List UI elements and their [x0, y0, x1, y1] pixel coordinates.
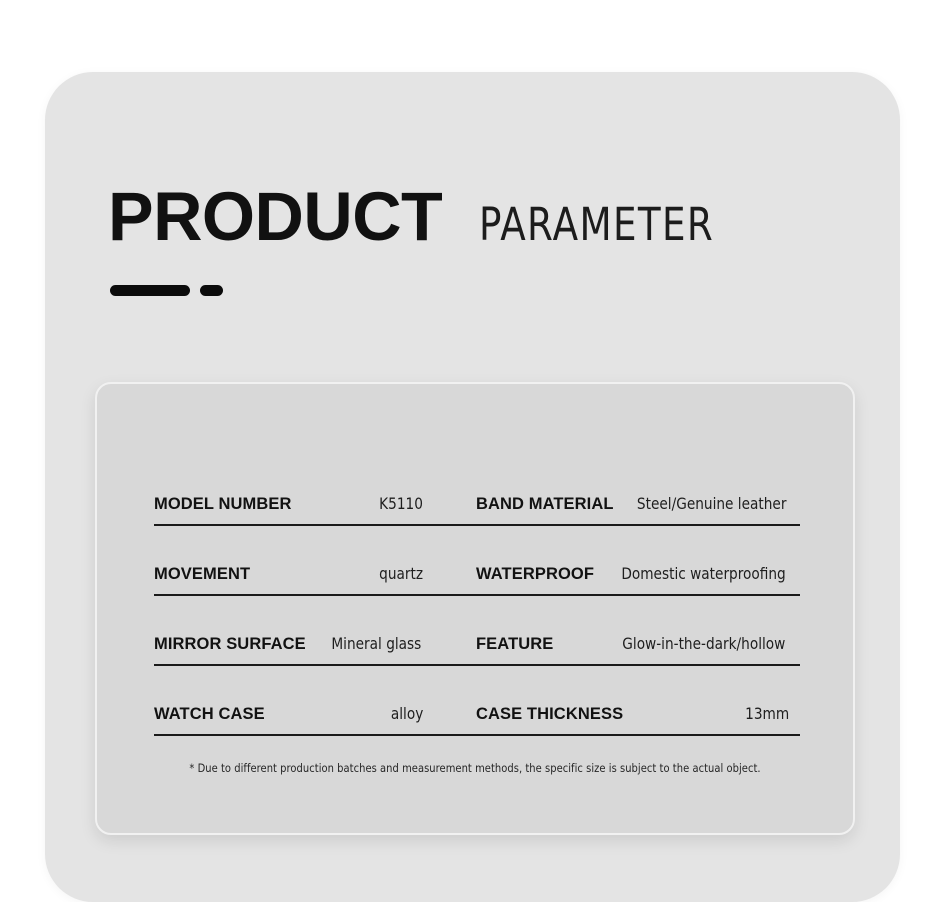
- spec-value: 13mm: [745, 704, 789, 723]
- spec-value: K5110: [379, 494, 423, 513]
- spec-label: WATCH CASE: [154, 705, 265, 724]
- spec-cell-watch-case: WATCH CASE alloy: [154, 704, 426, 724]
- table-row: WATCH CASE alloy CASE THICKNESS 13mm: [154, 684, 800, 754]
- spec-value: Steel/Genuine leather: [637, 494, 787, 513]
- product-parameter-card: PRODUCT PARAMETER MODEL NUMBER K5110 BAN…: [45, 72, 900, 902]
- row-divider: [154, 734, 800, 736]
- spec-label: MOVEMENT: [154, 565, 250, 584]
- specification-panel: MODEL NUMBER K5110 BAND MATERIAL Steel/G…: [95, 382, 855, 835]
- disclaimer-note: * Due to different production batches an…: [112, 761, 838, 775]
- spec-cell-case-thickness: CASE THICKNESS 13mm: [476, 704, 800, 724]
- spec-cell-model-number: MODEL NUMBER K5110: [154, 494, 426, 514]
- table-row: MODEL NUMBER K5110 BAND MATERIAL Steel/G…: [154, 474, 800, 544]
- spec-label: CASE THICKNESS: [476, 705, 623, 724]
- table-row: MOVEMENT quartz WATERPROOF Domestic wate…: [154, 544, 800, 614]
- page-title-primary: PRODUCT: [108, 182, 442, 251]
- spec-cell-movement: MOVEMENT quartz: [154, 564, 426, 584]
- spec-value: Domestic waterproofing: [621, 564, 785, 583]
- spec-value: Glow-in-the-dark/hollow: [623, 634, 786, 653]
- specification-table: MODEL NUMBER K5110 BAND MATERIAL Steel/G…: [154, 474, 800, 754]
- row-divider: [154, 524, 800, 526]
- spec-label: BAND MATERIAL: [476, 495, 614, 514]
- spec-value: Mineral glass: [332, 634, 422, 653]
- spec-cell-waterproof: WATERPROOF Domestic waterproofing: [476, 564, 800, 584]
- spec-label: MIRROR SURFACE: [154, 635, 306, 654]
- page-title: PRODUCT PARAMETER: [108, 182, 734, 251]
- spec-cell-band-material: BAND MATERIAL Steel/Genuine leather: [476, 494, 800, 514]
- dash-short-icon: [200, 285, 223, 296]
- spec-cell-mirror-surface: MIRROR SURFACE Mineral glass: [154, 634, 426, 654]
- table-row: MIRROR SURFACE Mineral glass FEATURE Glo…: [154, 614, 800, 684]
- spec-label: FEATURE: [476, 635, 553, 654]
- row-divider: [154, 594, 800, 596]
- spec-cell-feature: FEATURE Glow-in-the-dark/hollow: [476, 634, 800, 654]
- title-dash-accent: [110, 285, 223, 296]
- spec-label: MODEL NUMBER: [154, 495, 291, 514]
- spec-label: WATERPROOF: [476, 565, 594, 584]
- dash-long-icon: [110, 285, 190, 296]
- page-title-secondary: PARAMETER: [479, 202, 714, 247]
- spec-value: quartz: [379, 564, 423, 583]
- spec-value: alloy: [391, 704, 423, 723]
- row-divider: [154, 664, 800, 666]
